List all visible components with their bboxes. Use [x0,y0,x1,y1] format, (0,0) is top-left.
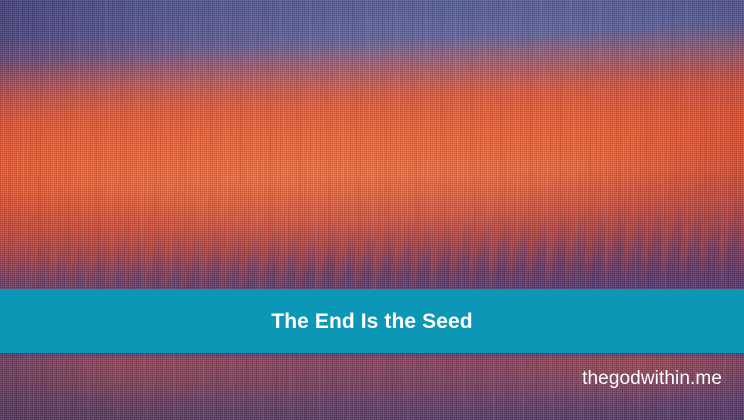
site-url-label: thegodwithin.me [582,369,722,388]
background-bottom-warm-band [0,0,744,420]
background-blue-haze [0,0,744,420]
background-orange-highlight [0,0,744,420]
title-banner: The End Is the Seed [0,289,744,353]
page-title: The End Is the Seed [271,311,472,332]
background-base-gradient [0,0,744,420]
background-upper-orange-wash [0,0,744,420]
background-canvas-weave [0,0,744,420]
background-vignette [0,0,744,420]
background-brush-strokes-wide [0,0,744,420]
background-orange-ragged-edge [0,0,744,420]
featured-image-banner: The End Is the Seed thegodwithin.me [0,0,744,420]
background-orange-band [0,0,744,420]
background-brush-strokes [0,0,744,420]
